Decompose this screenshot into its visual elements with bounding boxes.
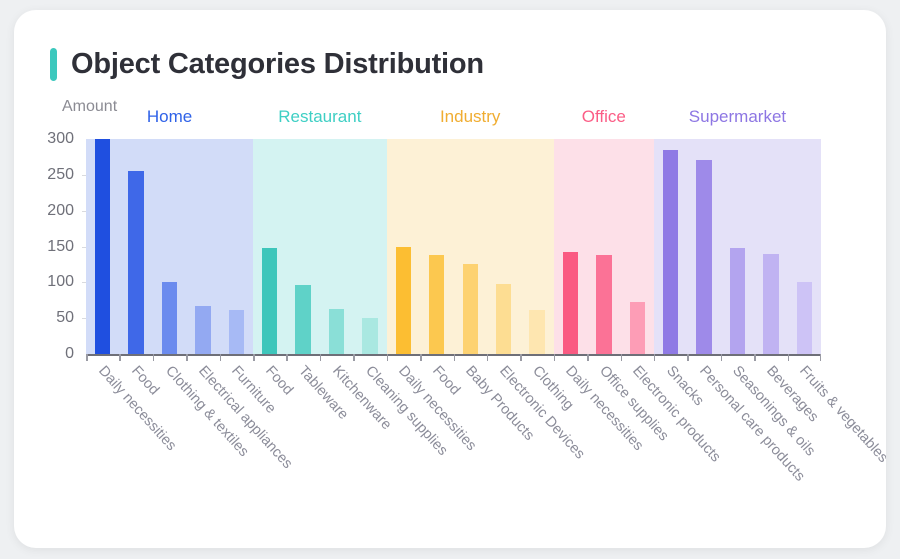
x-axis-tick <box>253 354 255 361</box>
x-axis-tick <box>320 354 322 361</box>
bar[interactable] <box>429 255 444 354</box>
bar-series <box>86 139 821 354</box>
bar[interactable] <box>128 171 143 354</box>
x-axis-tick <box>520 354 522 361</box>
x-axis-tick <box>119 354 121 361</box>
x-axis-tick <box>820 354 822 361</box>
x-axis-tick <box>454 354 456 361</box>
group-label-office: Office <box>582 107 626 127</box>
bar[interactable] <box>630 302 645 354</box>
chart-card: Object Categories Distribution Amount 05… <box>14 10 886 548</box>
x-axis-tick <box>621 354 623 361</box>
bar[interactable] <box>496 284 511 354</box>
bar[interactable] <box>229 310 244 354</box>
y-tick-label: 150 <box>28 238 74 256</box>
card-header: Object Categories Distribution <box>50 48 484 81</box>
bar[interactable] <box>295 285 310 354</box>
bar[interactable] <box>563 252 578 354</box>
bar[interactable] <box>696 160 711 354</box>
group-label-industry: Industry <box>440 107 500 127</box>
x-axis-tick <box>286 354 288 361</box>
bar[interactable] <box>162 282 177 354</box>
y-tick-label: 100 <box>28 273 74 291</box>
x-axis-tick <box>353 354 355 361</box>
x-axis-tick <box>487 354 489 361</box>
bar[interactable] <box>596 255 611 354</box>
y-tick-label: 50 <box>28 309 74 327</box>
bar[interactable] <box>362 318 377 354</box>
x-axis-tick <box>554 354 556 361</box>
bar[interactable] <box>396 247 411 355</box>
x-axis-tick <box>788 354 790 361</box>
bar[interactable] <box>663 150 678 354</box>
x-axis-tick <box>86 354 88 361</box>
y-tick-label: 0 <box>28 345 74 363</box>
bar[interactable] <box>529 310 544 354</box>
group-label-home: Home <box>147 107 192 127</box>
x-axis-tick <box>153 354 155 361</box>
bar[interactable] <box>730 248 745 354</box>
group-label-supermarket: Supermarket <box>689 107 786 127</box>
bar[interactable] <box>763 254 778 354</box>
bar[interactable] <box>262 248 277 354</box>
bar[interactable] <box>195 306 210 354</box>
y-tick-label: 300 <box>28 130 74 148</box>
y-tick-label: 250 <box>28 166 74 184</box>
x-axis-tick <box>186 354 188 361</box>
bar[interactable] <box>797 282 812 354</box>
x-axis-tick <box>754 354 756 361</box>
group-label-restaurant: Restaurant <box>278 107 361 127</box>
title-accent-bar <box>50 48 57 81</box>
x-axis-tick <box>654 354 656 361</box>
bar[interactable] <box>463 264 478 354</box>
x-axis-tick <box>721 354 723 361</box>
x-axis-tick <box>420 354 422 361</box>
x-axis-tick <box>387 354 389 361</box>
page-title: Object Categories Distribution <box>71 48 484 81</box>
y-axis-label: Amount <box>62 98 117 116</box>
y-tick-label: 200 <box>28 202 74 220</box>
chart-plot-area: 050100150200250300 Daily necessitiesFood… <box>86 129 821 354</box>
y-axis-ticks: 050100150200250300 <box>28 139 74 354</box>
x-axis-tick <box>587 354 589 361</box>
x-axis-tick <box>220 354 222 361</box>
x-axis-labels: Daily necessitiesFoodClothing & textiles… <box>86 363 821 548</box>
bar[interactable] <box>329 309 344 354</box>
x-axis-line <box>86 354 821 356</box>
bar[interactable] <box>95 139 110 354</box>
x-axis-tick <box>687 354 689 361</box>
